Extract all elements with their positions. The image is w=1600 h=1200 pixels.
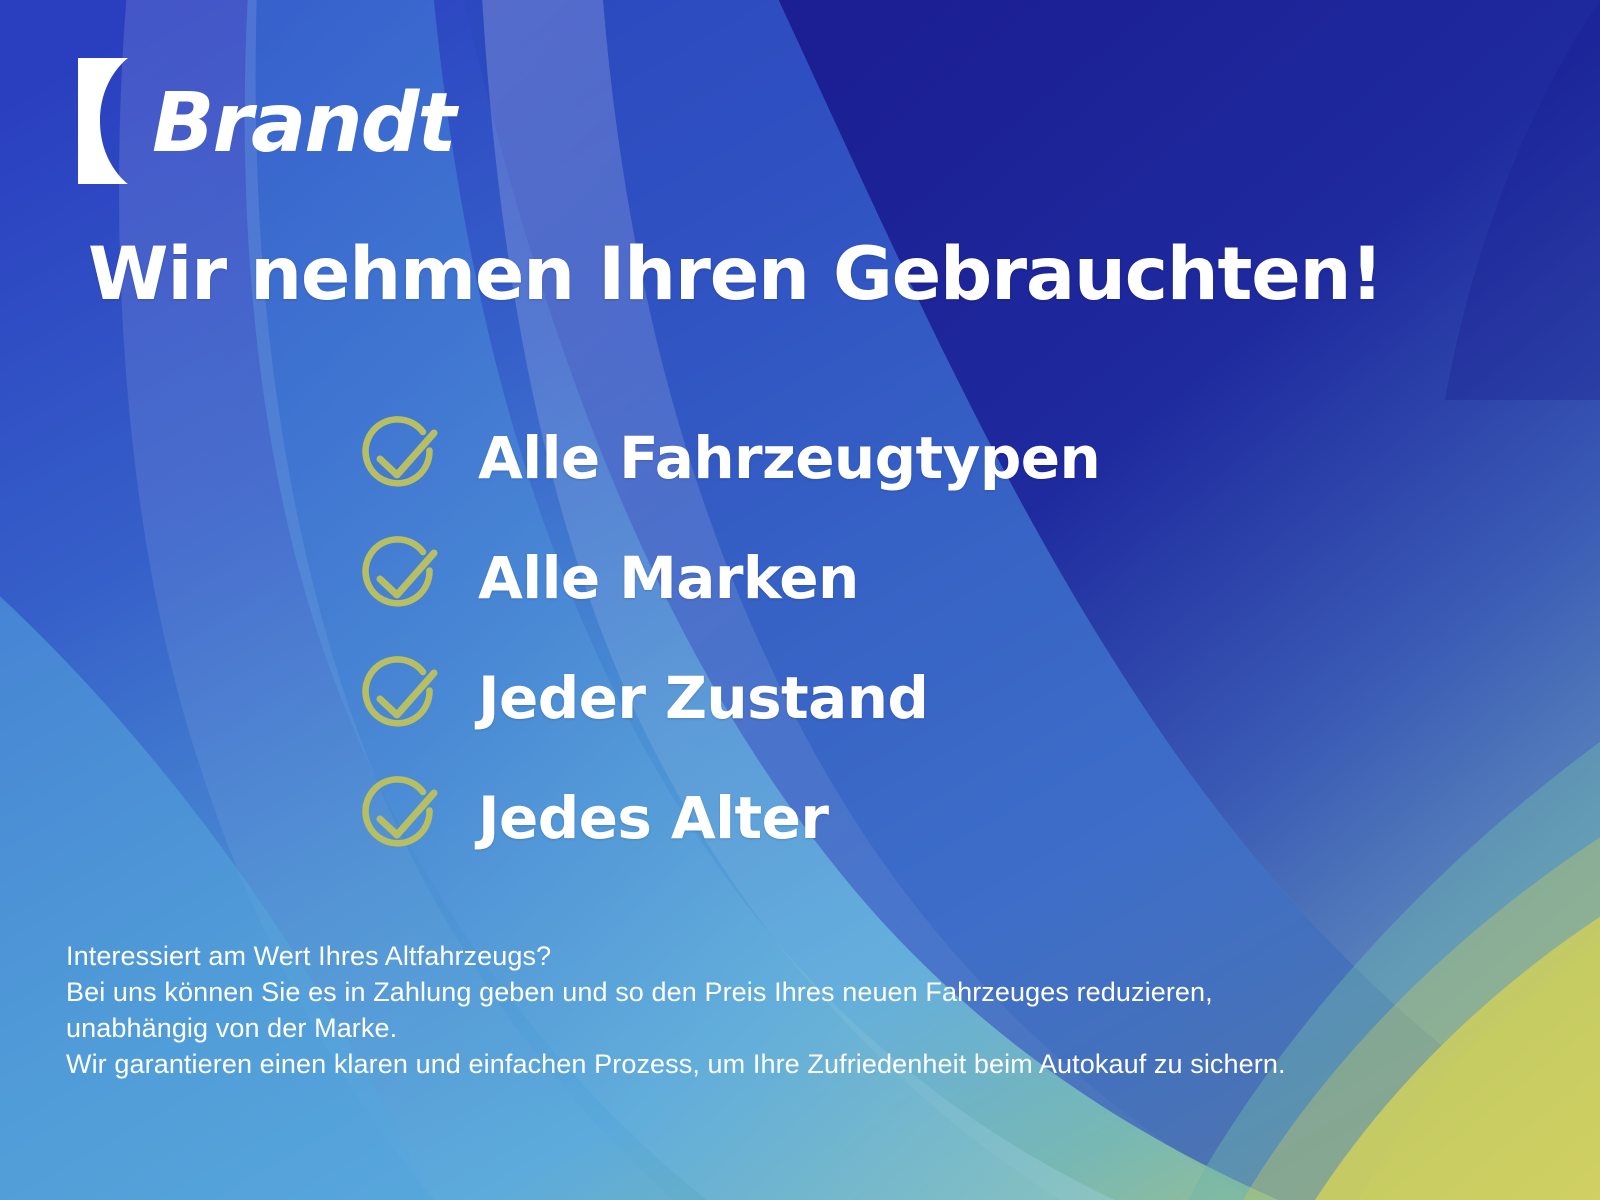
benefit-label: Alle Fahrzeugtypen bbox=[478, 429, 1100, 487]
benefit-item: Alle Marken bbox=[356, 518, 1100, 638]
footer-line: Interessiert am Wert Ihres Altfahrzeugs? bbox=[66, 938, 1486, 974]
footer-line: Wir garantieren einen klaren und einfach… bbox=[66, 1046, 1486, 1082]
check-circle-icon bbox=[356, 656, 440, 740]
footer-line: unabhängig von der Marke. bbox=[66, 1010, 1486, 1046]
promo-banner: Brandt Wir nehmen Ihren Gebrauchten! All… bbox=[0, 0, 1600, 1200]
benefit-label: Jeder Zustand bbox=[478, 669, 928, 727]
content-layer: Brandt Wir nehmen Ihren Gebrauchten! All… bbox=[0, 0, 1600, 1200]
footer-paragraph: Interessiert am Wert Ihres Altfahrzeugs?… bbox=[66, 938, 1486, 1082]
brand-logo: Brandt bbox=[74, 56, 455, 186]
brandt-bracket-icon bbox=[74, 56, 146, 186]
check-circle-icon bbox=[356, 536, 440, 620]
benefits-list: Alle Fahrzeugtypen Alle Marken Jeder Zus… bbox=[356, 398, 1100, 878]
benefit-item: Alle Fahrzeugtypen bbox=[356, 398, 1100, 518]
footer-line: Bei uns können Sie es in Zahlung geben u… bbox=[66, 974, 1486, 1010]
benefit-label: Jedes Alter bbox=[478, 789, 828, 847]
check-circle-icon bbox=[356, 776, 440, 860]
brand-wordmark: Brandt bbox=[152, 83, 455, 165]
benefit-item: Jeder Zustand bbox=[356, 638, 1100, 758]
check-circle-icon bbox=[356, 416, 440, 500]
benefit-item: Jedes Alter bbox=[356, 758, 1100, 878]
benefit-label: Alle Marken bbox=[478, 549, 859, 607]
page-title: Wir nehmen Ihren Gebrauchten! bbox=[88, 236, 1382, 315]
